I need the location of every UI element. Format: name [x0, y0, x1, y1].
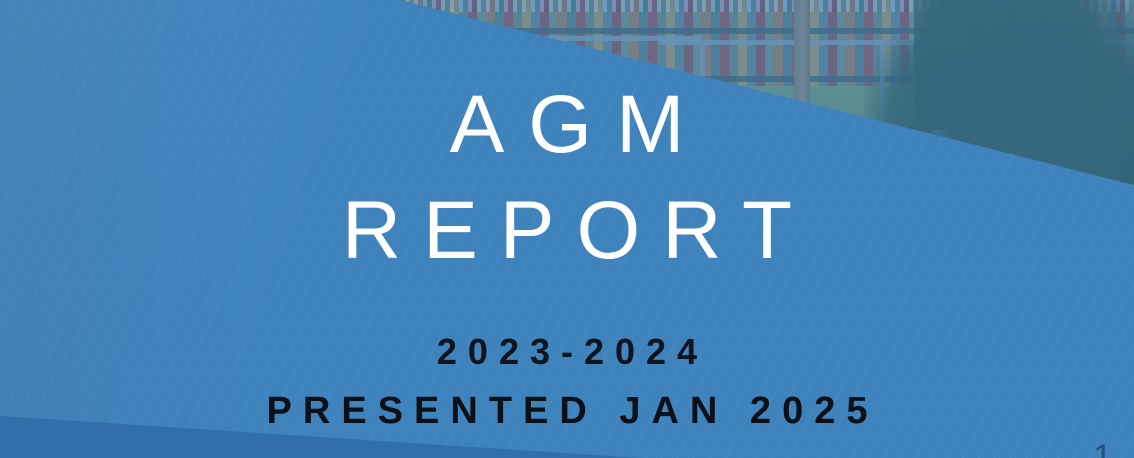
title-line-agm: AGM [0, 84, 1134, 166]
agm-report-cover-slide: AGM REPORT 2023-2024 PRESENTED JAN 2025 … [0, 0, 1134, 458]
subtitle-presented-date: PRESENTED JAN 2025 [0, 392, 1134, 430]
title-line-report: REPORT [0, 190, 1134, 272]
page-number: 1 [1093, 440, 1112, 458]
subtitle-reporting-years: 2023-2024 [0, 334, 1134, 370]
slide-content: AGM REPORT 2023-2024 PRESENTED JAN 2025 … [0, 0, 1134, 458]
